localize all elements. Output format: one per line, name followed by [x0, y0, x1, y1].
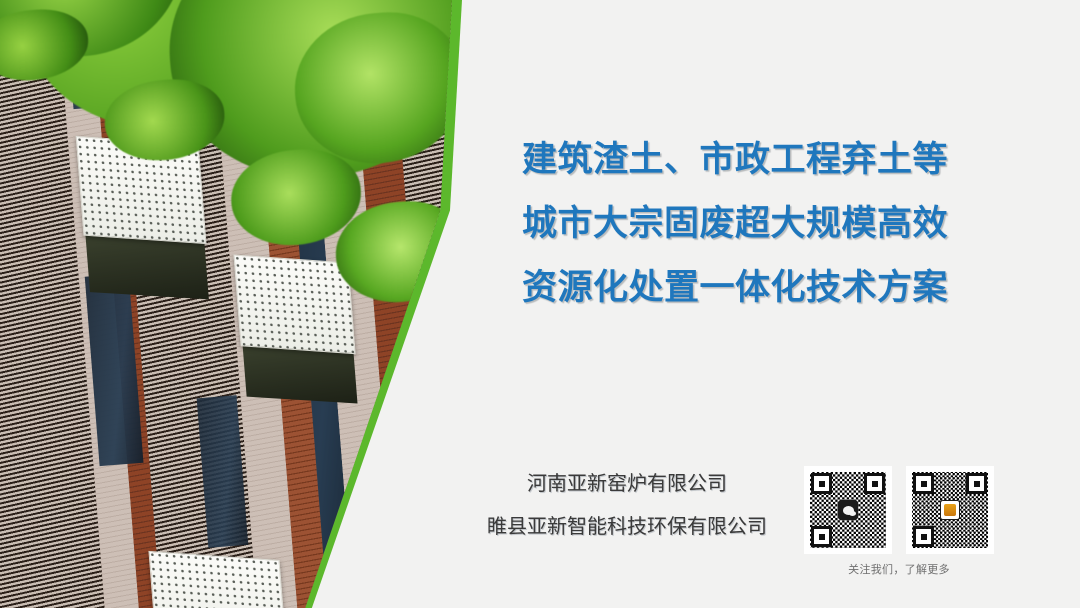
qr-finder-icon [811, 473, 832, 494]
slide-footer: 河南亚新窑炉有限公司 睢县亚新智能科技环保有限公司 [452, 466, 1080, 608]
cover-slide: 建筑渣土、市政工程弃土等 城市大宗固废超大规模高效 资源化处置一体化技术方案 河… [0, 0, 1080, 608]
qr-finder-icon [966, 473, 987, 494]
qr-finder-icon [913, 526, 934, 547]
qr-code-group: 关注我们，了解更多 [804, 466, 1028, 577]
qr-finder-icon [864, 473, 885, 494]
qr-caption: 关注我们，了解更多 [804, 561, 994, 577]
balcony-perforated-panel [148, 551, 287, 608]
qr-finder-icon [811, 526, 832, 547]
company-name-1: 河南亚新窑炉有限公司 [452, 474, 802, 494]
alipay-logo-icon [940, 500, 960, 520]
balcony-perforated-panel [233, 254, 355, 354]
company-name-2: 睢县亚新智能科技环保有限公司 [452, 517, 802, 537]
alipay-qr[interactable] [906, 466, 994, 554]
facade-photo-image [0, 0, 452, 608]
company-names: 河南亚新窑炉有限公司 睢县亚新智能科技环保有限公司 [452, 474, 802, 537]
title-line-3: 资源化处置一体化技术方案 [452, 270, 1018, 305]
content-panel: 建筑渣土、市政工程弃土等 城市大宗固废超大规模高效 资源化处置一体化技术方案 河… [452, 0, 1080, 608]
facade-photo [0, 0, 452, 608]
title-line-1: 建筑渣土、市政工程弃土等 [452, 142, 1018, 177]
qr-finder-icon [913, 473, 934, 494]
wechat-logo-icon [838, 500, 858, 520]
page-title: 建筑渣土、市政工程弃土等 城市大宗固废超大规模高效 资源化处置一体化技术方案 [452, 142, 1018, 305]
wechat-qr[interactable] [804, 466, 892, 554]
title-line-2: 城市大宗固废超大规模高效 [452, 206, 1018, 241]
